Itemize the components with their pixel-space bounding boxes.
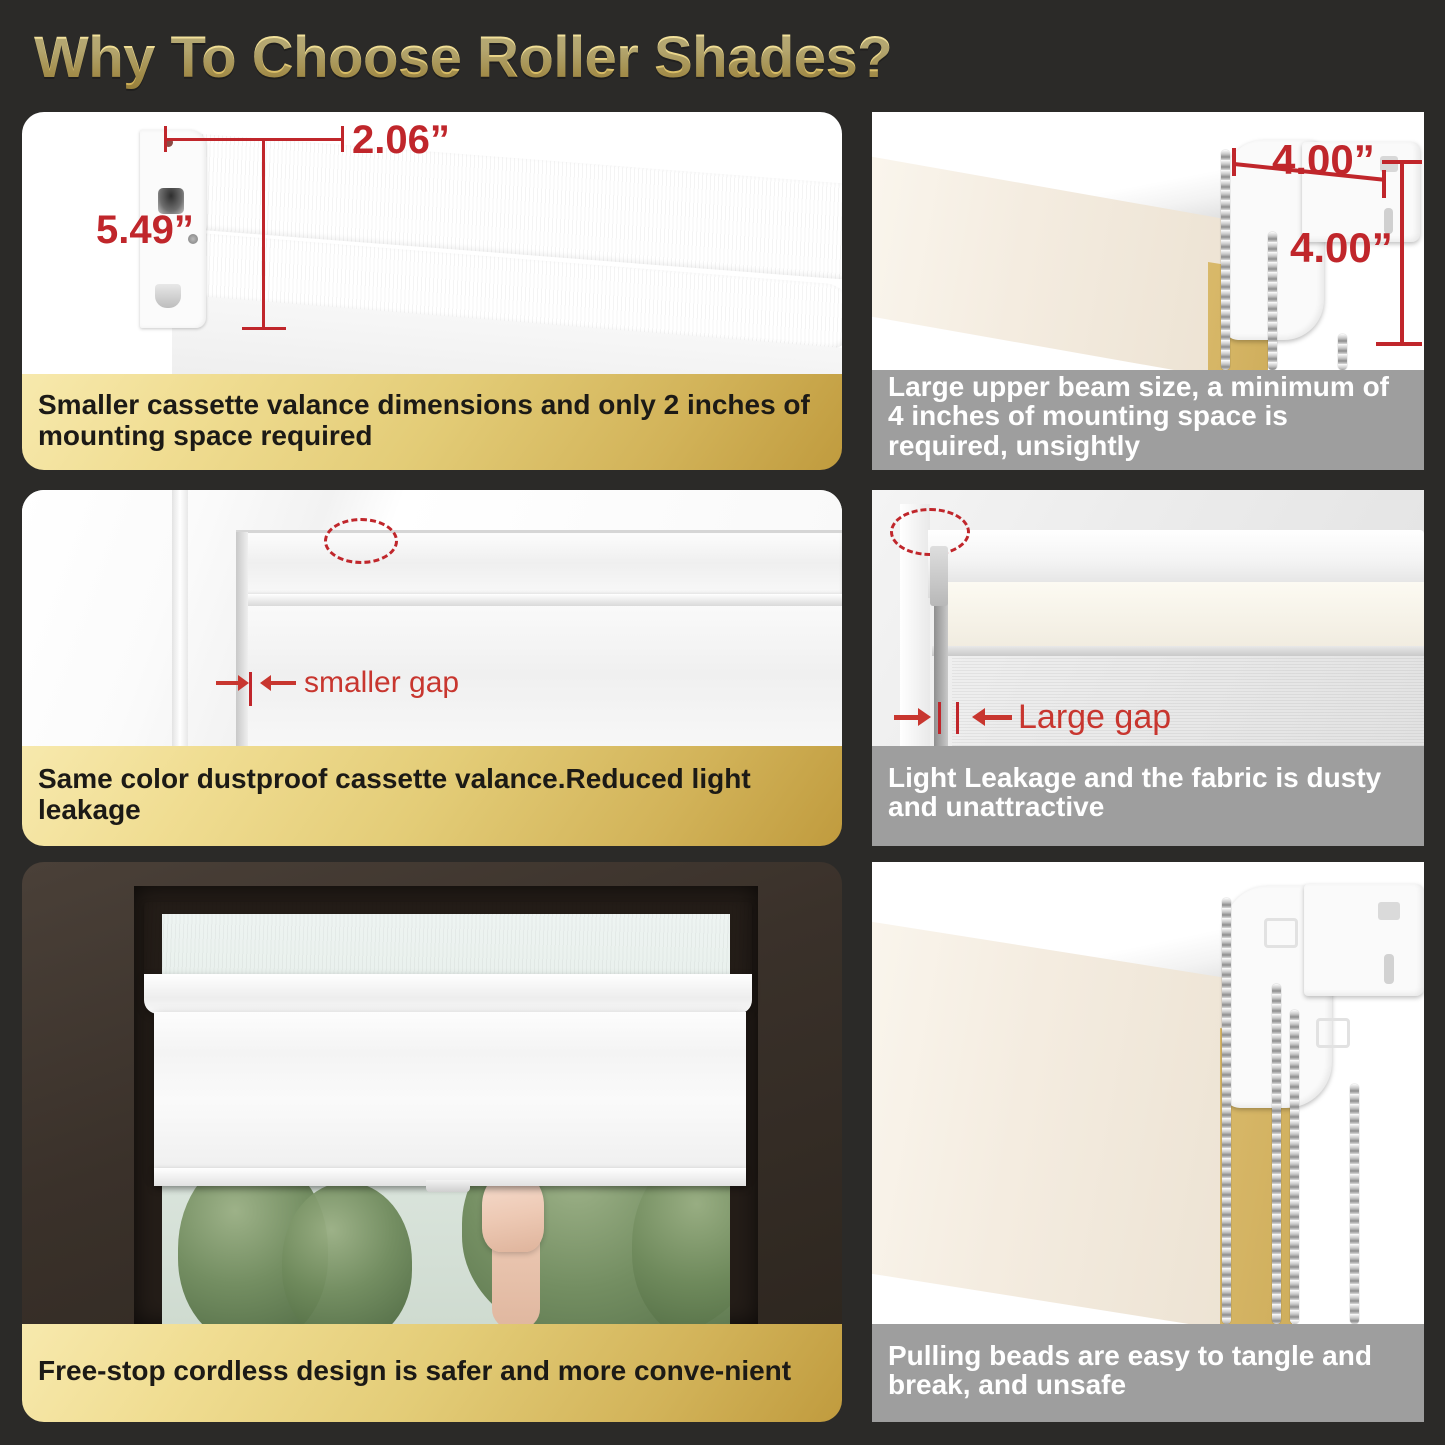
panel-con-beam-size: 4.00” 4.00” Large upper beam size, a min…	[872, 112, 1424, 470]
gap-arrow-right-icon	[270, 681, 296, 685]
shade-bottom-rail	[240, 594, 842, 606]
width-dim-tick-right	[1382, 170, 1386, 198]
width-dimension-label: 4.00”	[1272, 136, 1375, 184]
gap-label: Large gap	[1018, 698, 1171, 737]
caption-text: Same color dustproof cassette valance.Re…	[38, 763, 826, 826]
panel-caption-pro-cassette-size: Smaller cassette valance dimensions and …	[22, 374, 842, 470]
gap-arrow-right-icon	[984, 715, 1012, 720]
bracket-clip-icon	[930, 546, 948, 606]
gap-arrow-right-head-icon	[260, 675, 271, 691]
page-title: Why To Choose Roller Shades?	[34, 24, 892, 91]
caption-text: Light Leakage and the fabric is dusty an…	[888, 763, 1408, 822]
window-frame-edge	[172, 490, 188, 746]
shade-fabric-panel	[154, 1012, 746, 1174]
bead-chain-left	[1222, 898, 1231, 1324]
beam-valance-face	[934, 582, 1424, 648]
shade-pull-tab-icon	[426, 1180, 470, 1192]
bead-chain-middle-2	[1290, 1010, 1299, 1324]
gap-arrow-right-head-icon	[972, 708, 985, 726]
panel-con-large-gap: Large gap Light Leakage and the fabric i…	[872, 490, 1424, 846]
height-dim-line	[1400, 160, 1404, 346]
caption-text: Smaller cassette valance dimensions and …	[38, 389, 826, 452]
caption-text: Free-stop cordless design is safer and m…	[38, 1355, 791, 1386]
bracket-knob-icon	[155, 284, 181, 308]
beam-bottom-edge	[932, 646, 1424, 656]
bead-chain-right	[1350, 1084, 1359, 1324]
height-dim-line	[262, 138, 265, 330]
valance-side-channel	[236, 532, 248, 746]
gap-arrow-left-head-icon	[918, 708, 931, 726]
height-dim-tick-bottom	[1376, 342, 1422, 346]
large-gap-photo: Large gap	[872, 490, 1424, 746]
height-dim-tick-top	[1382, 160, 1422, 164]
tree-center	[282, 1182, 412, 1324]
gap-shadow-strip	[934, 590, 948, 746]
panel-caption-pro-smaller-gap: Same color dustproof cassette valance.Re…	[22, 746, 842, 846]
pull-beads-photo	[872, 862, 1424, 1324]
width-dim-tick-left	[164, 126, 167, 152]
bracket-slot-icon	[1384, 954, 1394, 984]
height-dim-tick-top	[246, 138, 286, 141]
endcap-arrow-up-icon	[1264, 918, 1298, 948]
caption-text: Pulling beads are easy to tangle and bre…	[888, 1341, 1408, 1400]
bead-chain-right	[1338, 334, 1347, 370]
width-dim-tick-right	[341, 126, 344, 152]
bracket-notch-icon	[1378, 902, 1400, 920]
bead-chain-middle	[1272, 984, 1281, 1324]
bead-chain-left	[1221, 150, 1230, 370]
panel-caption-con-large-gap: Light Leakage and the fabric is dusty an…	[872, 746, 1424, 846]
gap-label: smaller gap	[304, 666, 459, 700]
large-beam-photo: 4.00” 4.00”	[872, 112, 1424, 370]
mounting-bracket-plate	[1304, 884, 1424, 996]
cordless-window-photo	[22, 862, 842, 1324]
gap-arrow-left-head-icon	[238, 675, 249, 691]
caption-text: Large upper beam size, a minimum of 4 in…	[888, 372, 1408, 460]
endcap-arrow-down-icon	[1316, 1018, 1350, 1048]
valance-lip	[144, 974, 752, 1014]
height-dimension-label: 4.00”	[1290, 224, 1393, 272]
cream-fabric	[872, 915, 1252, 1324]
cassette-valance-photo: 2.06” 5.49”	[22, 112, 842, 374]
panel-caption-con-pull-beads: Pulling beads are easy to tangle and bre…	[872, 1324, 1424, 1422]
panel-caption-con-beam-size: Large upper beam size, a minimum of 4 in…	[872, 370, 1424, 470]
panel-pro-smaller-gap: smaller gap Same color dustproof cassett…	[22, 490, 842, 846]
smaller-gap-photo: smaller gap	[22, 490, 842, 746]
gap-marker-line-inner	[956, 702, 959, 734]
width-dim-tick-left	[1232, 148, 1236, 176]
gap-marker-line-outer	[938, 702, 941, 734]
panel-caption-pro-cordless: Free-stop cordless design is safer and m…	[22, 1324, 842, 1422]
height-dimension-label: 5.49”	[96, 208, 194, 253]
width-dimension-label: 2.06”	[352, 118, 450, 163]
height-dim-tick-bottom	[242, 327, 286, 330]
cassette-valance	[144, 902, 752, 980]
bead-chain-middle	[1268, 232, 1277, 370]
panel-con-pull-beads: Pulling beads are easy to tangle and bre…	[872, 862, 1424, 1422]
gap-highlight-ellipse	[324, 518, 398, 564]
gap-marker-line	[249, 672, 252, 706]
panel-pro-cassette-size: 2.06” 5.49” Smaller cassette valance dim…	[22, 112, 842, 470]
panel-pro-cordless: Free-stop cordless design is safer and m…	[22, 862, 842, 1422]
